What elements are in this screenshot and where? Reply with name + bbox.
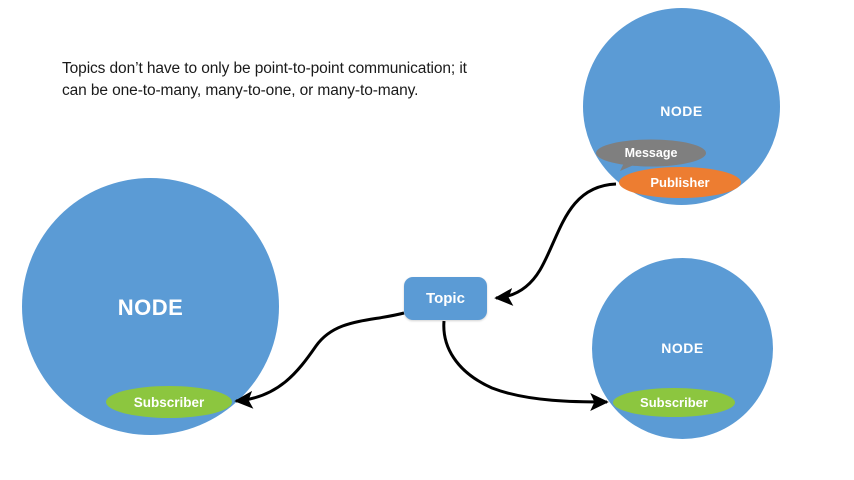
publisher-top-right[interactable]: Publisher — [619, 167, 741, 198]
node-left-label: NODE — [22, 295, 279, 321]
connector-topic-to-bottom-right-subscriber — [444, 321, 607, 402]
node-top-right-label: NODE — [583, 103, 780, 119]
subscriber-left[interactable]: Subscriber — [106, 386, 232, 418]
connector-publisher-to-topic — [496, 184, 616, 298]
node-bottom-right-label: NODE — [592, 340, 773, 356]
diagram-canvas: Topics don’t have to only be point-to-po… — [0, 0, 854, 480]
message-label: Message — [596, 139, 706, 167]
message-callout[interactable]: Message — [596, 139, 706, 171]
caption-text: Topics don’t have to only be point-to-po… — [62, 58, 482, 102]
subscriber-bottom-right[interactable]: Subscriber — [613, 388, 735, 417]
topic-box[interactable]: Topic — [404, 277, 487, 320]
